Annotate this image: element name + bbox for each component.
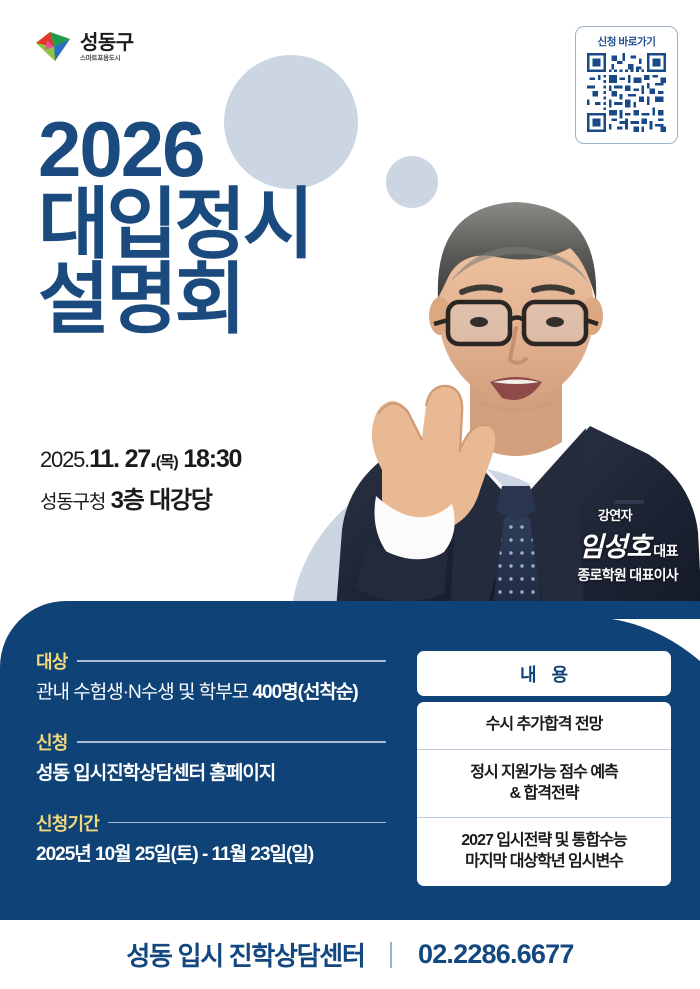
speaker-credit: 강연자 임성호 대표 종로학원 대표이사 bbox=[577, 505, 678, 585]
detail-value: 2025년 10월 25일(토) - 11월 23일(일) bbox=[36, 843, 386, 867]
speaker-role-label: 강연자 bbox=[577, 505, 632, 524]
event-date-md: 11. 27. bbox=[89, 445, 156, 473]
brand-logo: 성동구 스마트포용도시 bbox=[33, 30, 134, 66]
event-venue: 성동구청 3층 대강당 bbox=[40, 480, 241, 515]
detail-label: 신청기간 bbox=[36, 810, 99, 836]
event-details-list: 대상 관내 수험생·N수생 및 학부모 400명(선착순) 신청 성동 입시진학… bbox=[36, 648, 386, 866]
footer-divider bbox=[390, 942, 392, 968]
event-date-dayofweek: (목) bbox=[156, 454, 178, 471]
detail-value-bold: 성동 입시진학상담센터 홈페이지 bbox=[36, 763, 275, 784]
footer-center-name: 성동 입시 진학상담센터 bbox=[126, 936, 364, 973]
qr-apply-box[interactable]: 신청 바로가기 bbox=[575, 26, 678, 144]
detail-group-period: 신청기간 2025년 10월 25일(토) - 11월 23일(일) bbox=[36, 810, 386, 867]
detail-label: 대상 bbox=[36, 648, 68, 674]
detail-rule bbox=[77, 741, 386, 743]
detail-head: 대상 bbox=[36, 648, 386, 674]
qr-code-icon[interactable] bbox=[587, 53, 666, 132]
detail-group-apply: 신청 성동 입시진학상담센터 홈페이지 bbox=[36, 729, 386, 786]
poster-title: 2026 대입정시 설명회 bbox=[38, 112, 311, 337]
detail-value: 관내 수험생·N수생 및 학부모 400명(선착순) bbox=[36, 681, 386, 705]
detail-label: 신청 bbox=[36, 729, 68, 755]
speaker-name-row: 임성호 대표 bbox=[577, 525, 678, 564]
title-line-2: 대입정시 bbox=[38, 187, 311, 262]
brand-district-name: 성동구 bbox=[80, 33, 134, 53]
program-content-card: 내 용 수시 추가합격 전망 정시 지원가능 점수 예측& 합격전략 2027 … bbox=[417, 651, 671, 886]
event-poster: 성동구 스마트포용도시 신청 바로가기 bbox=[0, 0, 700, 989]
seongdong-emblem-icon bbox=[33, 30, 73, 66]
venue-building: 성동구청 bbox=[40, 492, 105, 513]
content-card-header-label: 내 용 bbox=[515, 661, 573, 687]
detail-head: 신청 bbox=[36, 729, 386, 755]
speaker-name: 임성호 bbox=[579, 525, 651, 564]
detail-head: 신청기간 bbox=[36, 810, 386, 836]
qr-label: 신청 바로가기 bbox=[597, 34, 655, 49]
detail-value-bold: 2025년 10월 25일(토) - 11월 23일(일) bbox=[36, 844, 313, 865]
footer-phone[interactable]: 02.2286.6677 bbox=[418, 939, 574, 970]
venue-room: 3층 대강당 bbox=[111, 487, 212, 514]
detail-value-light: 관내 수험생·N수생 및 학부모 bbox=[36, 682, 252, 703]
title-year: 2026 bbox=[38, 112, 311, 187]
content-item: 정시 지원가능 점수 예측& 합격전략 bbox=[417, 749, 671, 818]
content-item: 수시 추가합격 전망 bbox=[417, 702, 671, 749]
content-card-header: 내 용 bbox=[417, 651, 671, 696]
title-line-3: 설명회 bbox=[38, 262, 311, 337]
footer-contact-bar: 성동 입시 진학상담센터 02.2286.6677 bbox=[0, 920, 700, 989]
event-schedule: 2025.11. 27.(목) 18:30 성동구청 3층 대강당 bbox=[40, 444, 241, 515]
detail-value: 성동 입시진학상담센터 홈페이지 bbox=[36, 762, 386, 786]
brand-tagline: 스마트포용도시 bbox=[80, 56, 134, 63]
detail-rule bbox=[77, 660, 386, 662]
detail-rule bbox=[108, 822, 386, 824]
speaker-title-suffix: 대표 bbox=[653, 541, 678, 561]
event-time: 18:30 bbox=[183, 445, 241, 473]
content-item: 2027 입시전략 및 통합수능마지막 대상학년 임시변수 bbox=[417, 817, 671, 886]
detail-value-bold: 400명(선착순) bbox=[252, 682, 357, 703]
detail-group-target: 대상 관내 수험생·N수생 및 학부모 400명(선착순) bbox=[36, 648, 386, 705]
content-card-body: 수시 추가합격 전망 정시 지원가능 점수 예측& 합격전략 2027 입시전략… bbox=[417, 702, 671, 886]
speaker-organization: 종로학원 대표이사 bbox=[577, 565, 678, 585]
event-datetime: 2025.11. 27.(목) 18:30 bbox=[40, 444, 241, 474]
event-date-year: 2025. bbox=[40, 447, 89, 472]
